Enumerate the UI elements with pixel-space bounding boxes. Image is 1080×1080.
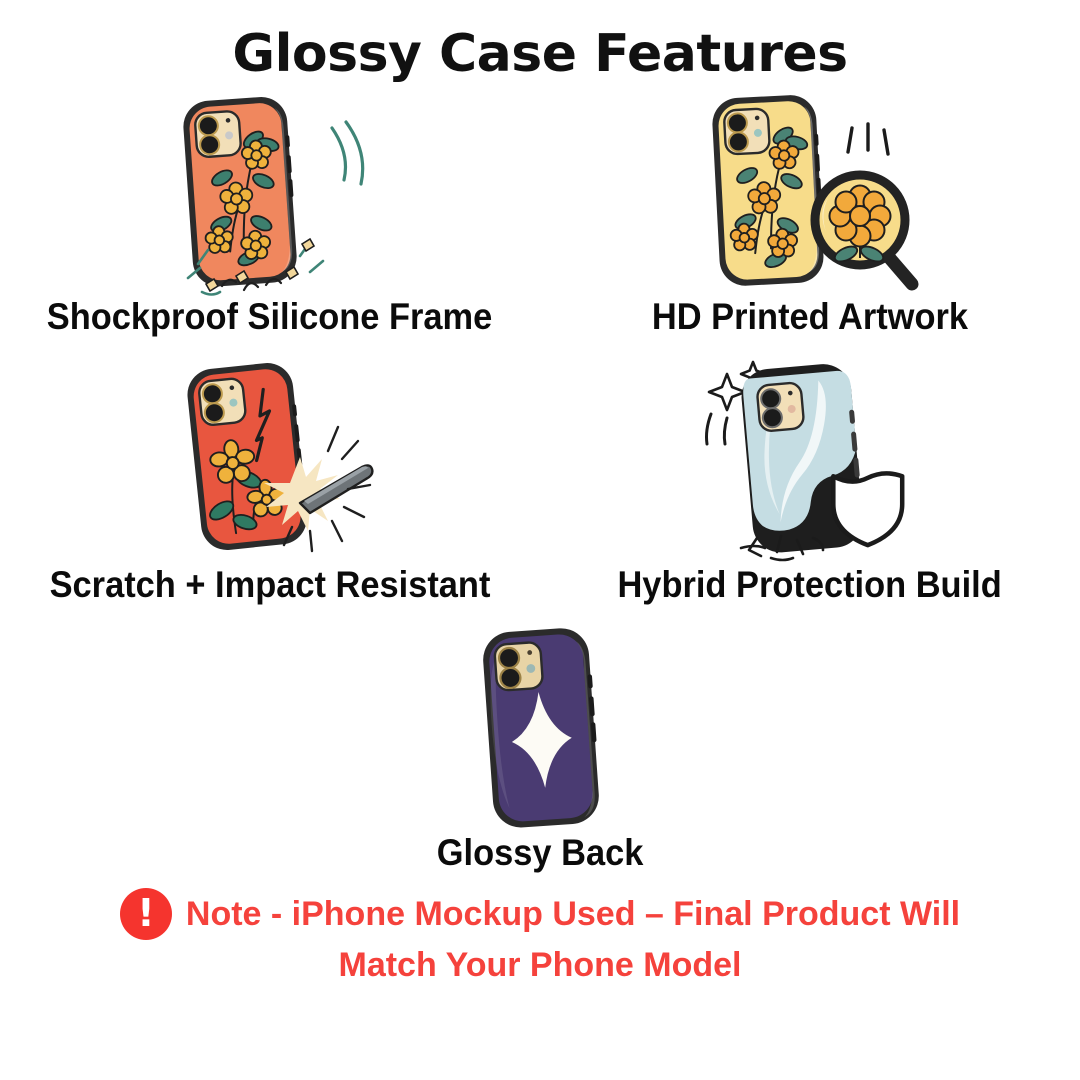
feature-label-hybrid-protection: Hybrid Protection Build bbox=[618, 566, 1002, 603]
hd-print-illustration bbox=[540, 86, 1080, 298]
phone-case-purple-sparkle-icon bbox=[440, 622, 640, 834]
feature-label-shockproof: Shockproof Silicone Frame bbox=[47, 298, 493, 335]
feature-card-shockproof: Shockproof Silicone Frame bbox=[0, 86, 540, 354]
feature-card-hybrid-protection: Hybrid Protection Build bbox=[540, 354, 1080, 622]
feature-infographic: Glossy Case Features bbox=[0, 0, 1080, 1080]
warning-symbol: ! bbox=[137, 894, 154, 932]
glossy-back-illustration bbox=[0, 622, 1080, 834]
shockproof-illustration bbox=[0, 86, 540, 298]
warning-exclamation-icon: ! bbox=[120, 888, 172, 940]
note-text-line2: Match Your Phone Model bbox=[339, 946, 742, 985]
feature-label-glossy-back: Glossy Back bbox=[437, 834, 644, 871]
phone-case-blue-shield-icon bbox=[685, 352, 935, 568]
note-section: ! Note - iPhone Mockup Used – Final Prod… bbox=[0, 888, 1080, 985]
phone-case-coral-impact-icon bbox=[140, 86, 400, 298]
feature-card-scratch-impact: Scratch + Impact Resistant bbox=[0, 354, 540, 622]
feature-label-hd-print: HD Printed Artwork bbox=[652, 298, 968, 335]
feature-card-glossy-back: Glossy Back bbox=[0, 622, 1080, 882]
feature-card-hd-print: HD Printed Artwork bbox=[540, 86, 1080, 354]
phone-case-red-blade-icon bbox=[142, 355, 398, 565]
note-text-line1: Note - iPhone Mockup Used – Final Produc… bbox=[186, 895, 960, 934]
page-title: Glossy Case Features bbox=[232, 28, 847, 80]
scratch-impact-illustration bbox=[0, 354, 540, 566]
feature-label-scratch-impact: Scratch + Impact Resistant bbox=[50, 566, 491, 603]
note-line-1: ! Note - iPhone Mockup Used – Final Prod… bbox=[120, 888, 960, 940]
phone-case-yellow-magnifier-icon bbox=[676, 86, 944, 298]
magnifier-icon bbox=[815, 175, 912, 284]
hybrid-protection-illustration bbox=[540, 354, 1080, 566]
feature-grid: Shockproof Silicone Frame bbox=[0, 86, 1080, 882]
